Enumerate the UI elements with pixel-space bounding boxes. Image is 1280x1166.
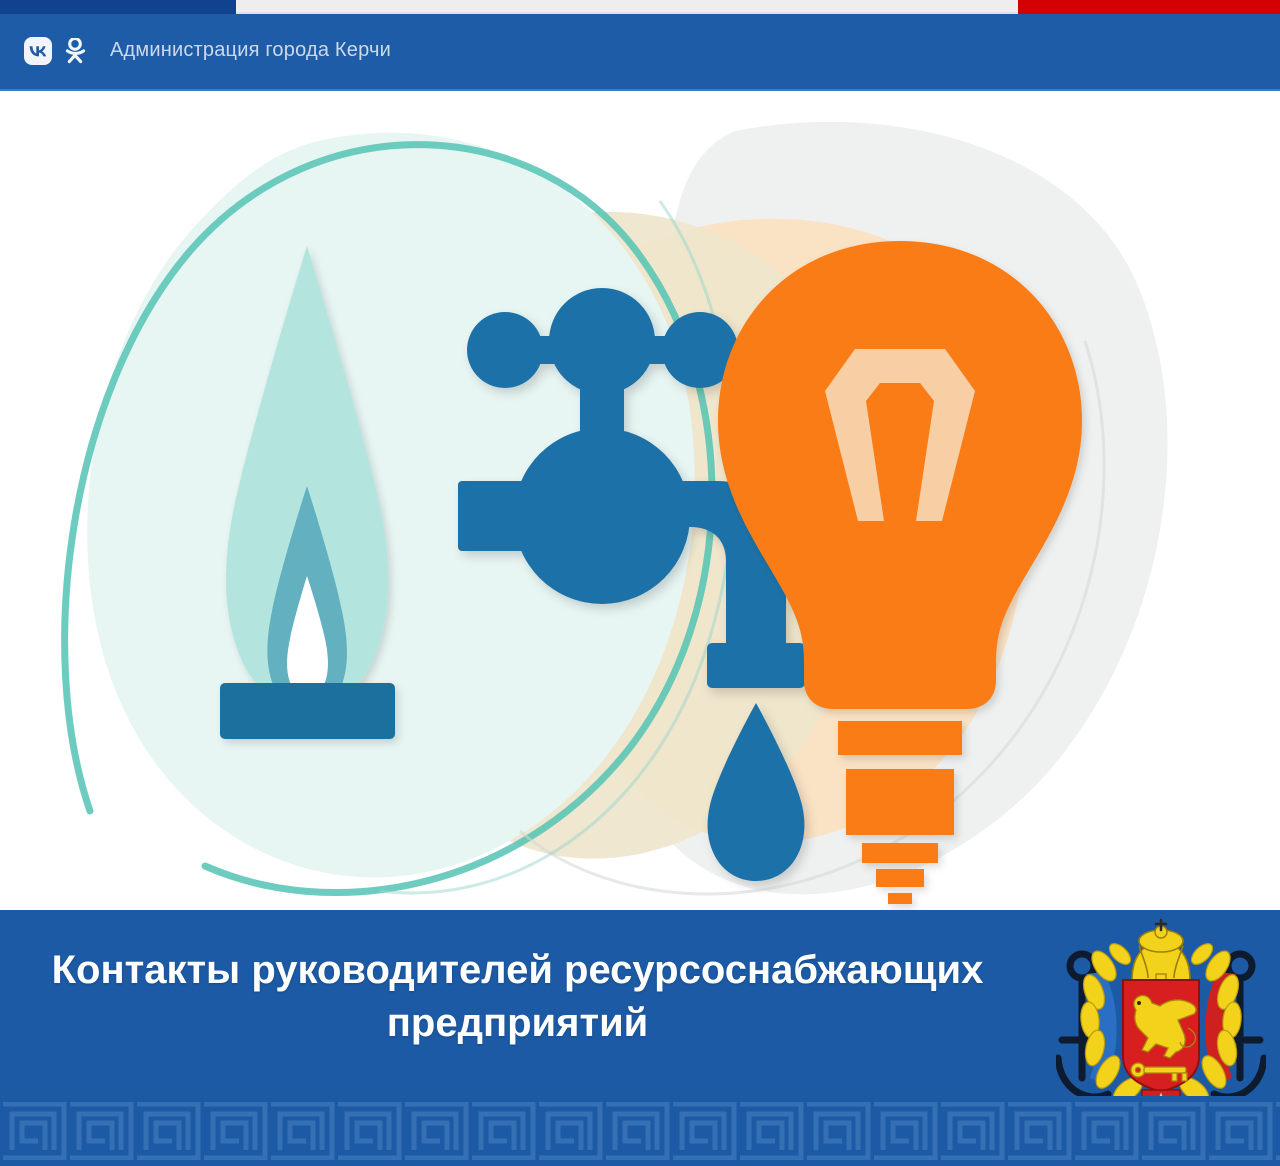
utilities-illustration <box>0 91 1280 910</box>
tap-spout-tip <box>707 643 805 688</box>
bulb-base-tip <box>888 893 912 904</box>
title-banner: Контакты руководителей ресурсоснабжающих… <box>0 910 1280 1096</box>
bulb-base-band-4 <box>876 869 924 887</box>
flag-segment-red <box>1018 0 1280 14</box>
greek-key-border <box>0 1096 1280 1166</box>
gas-burner-bar <box>220 683 395 739</box>
flag-segment-blue <box>0 0 236 14</box>
bulb-base-band-1 <box>838 721 962 755</box>
odnoklassniki-icon[interactable] <box>62 37 88 65</box>
tap-handle-knob-left <box>467 312 543 388</box>
russian-flag-strip <box>0 0 1280 14</box>
bulb-base-band-2 <box>846 769 954 835</box>
kerch-coat-of-arms <box>1056 918 1266 1096</box>
flag-segment-white <box>236 0 1018 14</box>
header-title: Администрация города Керчи <box>110 39 391 62</box>
tap-inlet <box>458 481 608 551</box>
social-links <box>24 37 88 65</box>
poster-root: Администрация города Керчи <box>0 0 1280 1166</box>
bulb-base-band-3 <box>862 843 938 863</box>
page-title: Контакты руководителей ресурсоснабжающих… <box>0 944 1035 1050</box>
imperial-crown <box>1132 920 1190 986</box>
vk-icon[interactable] <box>24 37 52 65</box>
